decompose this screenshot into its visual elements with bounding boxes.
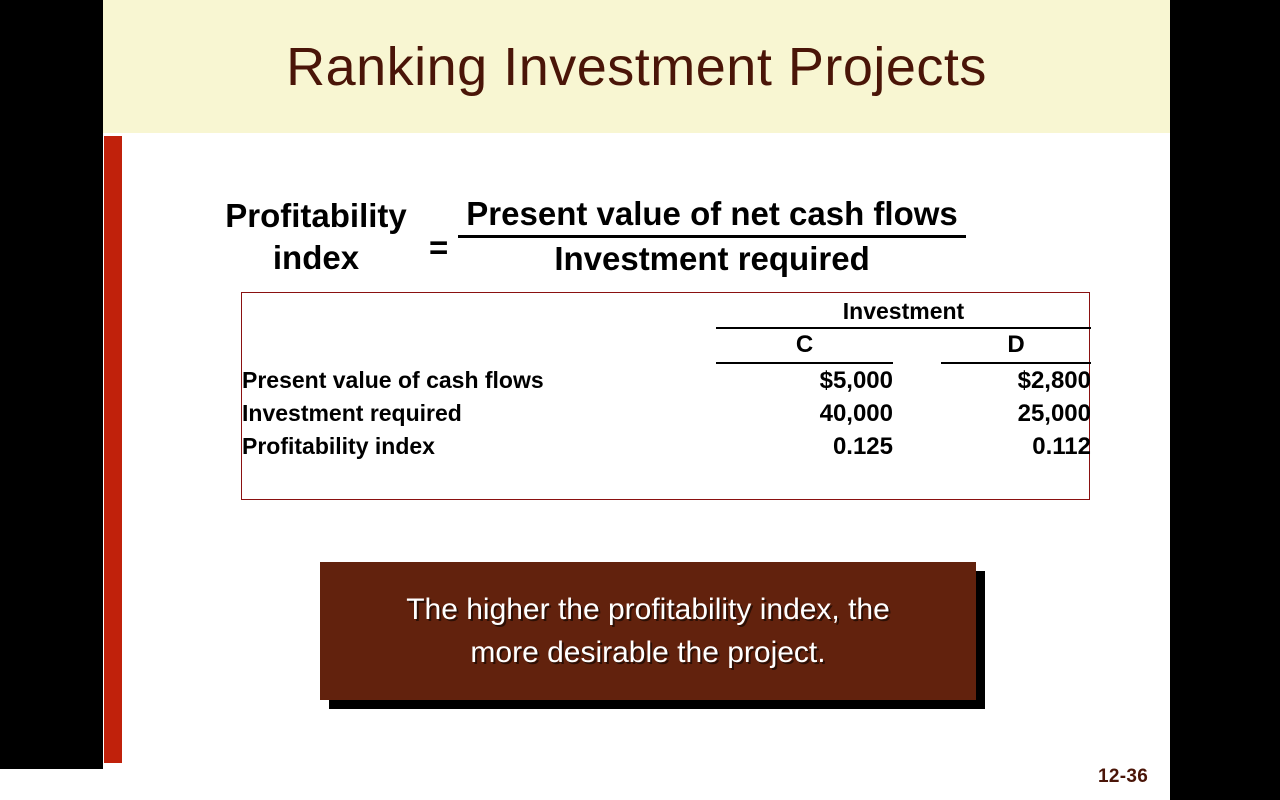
spacer-cell (893, 397, 941, 430)
table-column-header-row: C D (242, 329, 1091, 359)
callout-box: The higher the profitability index, the … (320, 562, 976, 700)
cell-present-value-d: $2,800 (941, 364, 1091, 397)
formula-lhs-line1: Profitability (213, 195, 419, 237)
investment-comparison-panel: Investment C D (241, 292, 1090, 500)
formula-fraction: Present value of net cash flows Investme… (458, 193, 966, 280)
accent-bar (104, 136, 122, 763)
column-header-c: C (716, 329, 893, 359)
letterbox-right (1170, 0, 1280, 800)
equals-sign: = (419, 229, 458, 267)
fraction-denominator: Investment required (546, 238, 877, 280)
table-group-header-row: Investment (242, 293, 1091, 325)
investment-comparison-table: Investment C D (242, 293, 1091, 463)
formula-left-side: Profitability index (213, 195, 419, 279)
row-label-present-value: Present value of cash flows (242, 364, 716, 397)
formula-lhs-line2: index (213, 237, 419, 279)
fraction-numerator: Present value of net cash flows (458, 193, 966, 235)
cell-present-value-c: $5,000 (716, 364, 893, 397)
group-header-investment: Investment (716, 293, 1091, 325)
cell-investment-required-c: 40,000 (716, 397, 893, 430)
spacer-cell (893, 430, 941, 463)
callout-line-1: The higher the profitability index, the (406, 593, 890, 626)
spacer-cell (242, 293, 716, 325)
spacer-cell (893, 364, 941, 397)
spacer-cell (893, 329, 941, 359)
table-row: Investment required 40,000 25,000 (242, 397, 1091, 430)
title-band: Ranking Investment Projects (103, 0, 1170, 133)
row-label-profitability-index: Profitability index (242, 430, 716, 463)
cell-investment-required-d: 25,000 (941, 397, 1091, 430)
slide-number: 12-36 (1098, 766, 1148, 788)
cell-profitability-index-d: 0.112 (941, 430, 1091, 463)
profitability-index-formula: Profitability index = Present value of n… (213, 193, 966, 280)
table-row: Profitability index 0.125 0.112 (242, 430, 1091, 463)
table-row: Present value of cash flows $5,000 $2,80… (242, 364, 1091, 397)
spacer-cell (242, 329, 716, 359)
slide-canvas: Ranking Investment Projects Profitabilit… (0, 0, 1280, 800)
row-label-investment-required: Investment required (242, 397, 716, 430)
page-title: Ranking Investment Projects (103, 0, 1170, 133)
callout-text: The higher the profitability index, the … (380, 588, 916, 674)
letterbox-left (0, 0, 103, 769)
column-header-d: D (941, 329, 1091, 359)
letterbox-left-lower (0, 769, 103, 800)
callout-line-2: more desirable the project. (470, 636, 825, 669)
cell-profitability-index-c: 0.125 (716, 430, 893, 463)
callout-box-wrapper: The higher the profitability index, the … (320, 562, 976, 700)
